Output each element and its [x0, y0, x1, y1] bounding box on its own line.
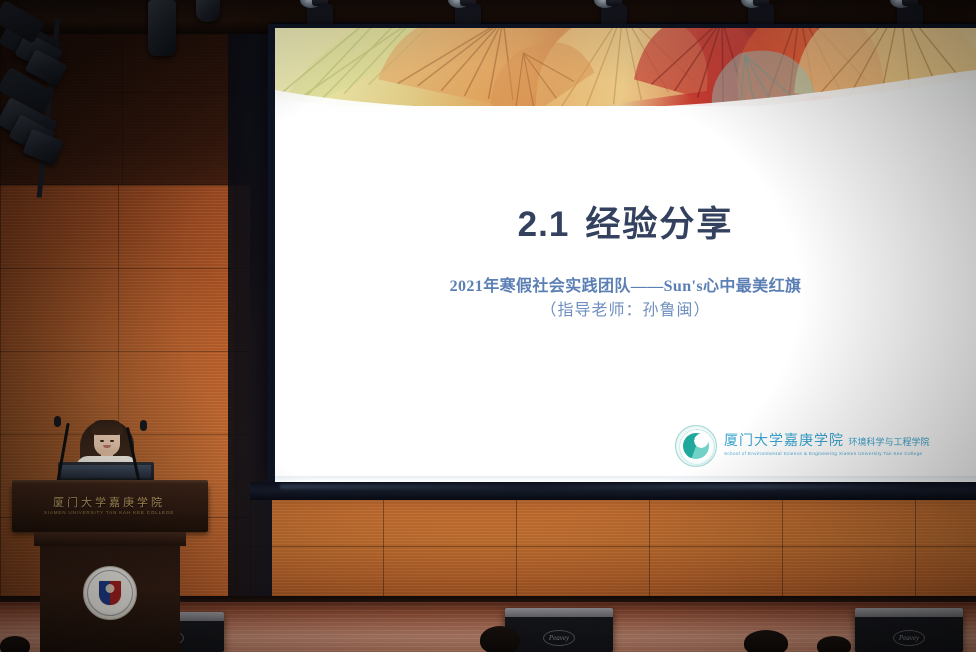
hanging-speaker [196, 0, 220, 22]
photograph: 2.1经验分享 2021年寒假社会实践团队——Sun's心中最美红旗 （指导老师… [0, 0, 976, 652]
slide-subtitle-line1: 2021年寒假社会实践团队——Sun's心中最美红旗 [275, 272, 976, 296]
screen-side-column [228, 0, 272, 600]
lower-wall-panels [250, 498, 976, 602]
podium-waist [34, 532, 186, 546]
podium-name-english: XIAMEN UNIVERSITY TAN KAH KEE COLLEGE [24, 510, 194, 515]
podium-front-panel: 厦门大学嘉庚学院 XIAMEN UNIVERSITY TAN KAH KEE C… [12, 484, 208, 532]
monitor-brand-badge: Peavey [893, 630, 925, 646]
lamp-body [22, 129, 63, 166]
microphone-head-icon [54, 416, 61, 427]
slide-title-number: 2.1 [518, 205, 570, 244]
logo-cn-dept: 环境科学与工程学院 [849, 437, 930, 447]
autumn-leaves-banner [275, 28, 976, 106]
logo-chinese-name: 厦门大学嘉庚学院 环境科学与工程学院 [724, 435, 930, 450]
monitor-top-panel [505, 608, 613, 617]
crest-shield [98, 580, 122, 606]
stage-monitor-speaker: Peavey [855, 608, 963, 652]
monitor-brand-badge: Peavey [543, 630, 575, 646]
audience-head [817, 636, 851, 652]
podium-base [40, 546, 180, 652]
logo-english-name: School of Environmental Science & Engine… [724, 452, 930, 457]
stage-monitor-speaker: Peavey [505, 608, 613, 652]
podium-name-chinese: 厦门大学嘉庚学院 [24, 494, 194, 510]
hanging-speaker [148, 0, 176, 56]
screen-bottom-trim [250, 482, 976, 500]
microphone-head-icon [140, 420, 147, 431]
college-crest-icon [83, 566, 137, 620]
projection-screen: 2.1经验分享 2021年寒假社会实践团队——Sun's心中最美红旗 （指导老师… [275, 28, 976, 482]
logo-cn-main: 厦门大学嘉庚学院 [724, 434, 844, 449]
swirl-emblem-icon [675, 425, 717, 467]
audience-head [480, 626, 520, 652]
presenter-eye [110, 440, 114, 442]
slide-subtitle-line2: （指导老师：孙鲁闽） [275, 296, 976, 320]
audience-head [744, 630, 788, 652]
podium: 厦门大学嘉庚学院 XIAMEN UNIVERSITY TAN KAH KEE C… [12, 462, 212, 652]
slide-title: 2.1经验分享 [275, 206, 976, 245]
left-lamp-cluster [0, 10, 130, 195]
monitor-top-panel [855, 608, 963, 617]
slide-title-text: 经验分享 [585, 205, 733, 244]
presenter-eye [100, 440, 104, 442]
logo-text-block: 厦门大学嘉庚学院 环境科学与工程学院 School of Environment… [724, 435, 930, 458]
presenter-fringe [91, 420, 123, 435]
slide-footer-logo: 厦门大学嘉庚学院 环境科学与工程学院 School of Environment… [675, 422, 970, 470]
banner-wave-divider [275, 68, 976, 106]
